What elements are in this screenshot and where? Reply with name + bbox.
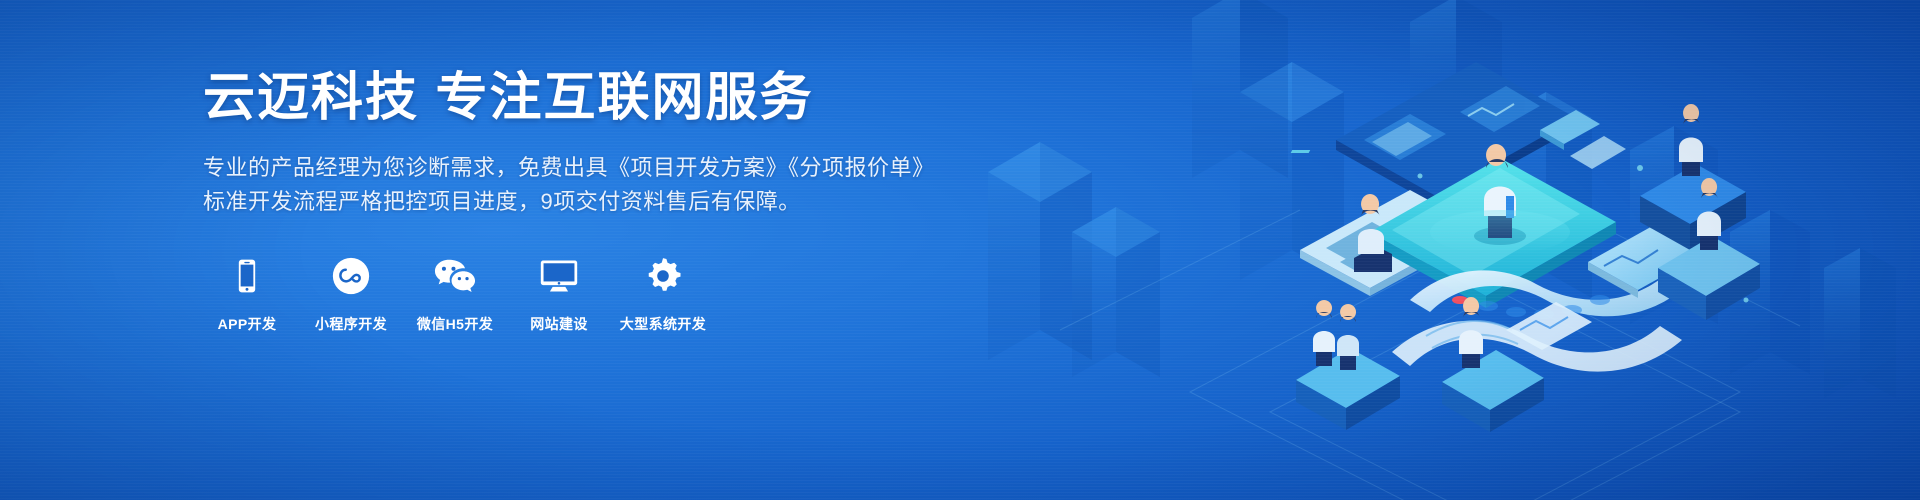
service-item-website[interactable]: 网站建设 xyxy=(515,253,603,334)
service-item-large-system[interactable]: 大型系统开发 xyxy=(619,253,707,334)
monitor-icon xyxy=(537,253,581,299)
figure-hero xyxy=(1474,144,1526,245)
mobile-phone-icon xyxy=(227,253,267,299)
service-item-wechat-h5[interactable]: 微信H5开发 xyxy=(411,253,499,334)
banner-subtitle-line-1: 专业的产品经理为您诊断需求，免费出具《项目开发方案》《分项报价单》 xyxy=(203,151,1103,185)
banner-headline: 云迈科技 专注互联网服务 xyxy=(203,68,1103,129)
hero-banner: 云迈科技 专注互联网服务 专业的产品经理为您诊断需求，免费出具《项目开发方案》《… xyxy=(0,0,1920,500)
service-item-app[interactable]: APP开发 xyxy=(203,253,291,334)
banner-content: 云迈科技 专注互联网服务 专业的产品经理为您诊断需求，免费出具《项目开发方案》《… xyxy=(203,68,1103,334)
service-label: 大型系统开发 xyxy=(620,314,706,334)
mini-program-icon xyxy=(330,253,372,299)
service-label: 网站建设 xyxy=(530,314,588,334)
gear-icon xyxy=(642,253,684,299)
figure-lower-right xyxy=(1459,297,1483,368)
service-label: APP开发 xyxy=(218,314,277,334)
figure-laptop xyxy=(1354,194,1392,272)
service-list: APP开发 小程序开发 xyxy=(203,253,1103,334)
figure-right-lower xyxy=(1697,178,1721,250)
service-item-mini-program[interactable]: 小程序开发 xyxy=(307,253,395,334)
service-label: 微信H5开发 xyxy=(417,314,493,334)
figure-right-upper xyxy=(1679,104,1703,176)
service-label: 小程序开发 xyxy=(315,314,387,334)
wechat-icon xyxy=(432,253,478,299)
banner-subtitle-line-2: 标准开发流程严格把控项目进度，9项交付资料售后有保障。 xyxy=(203,185,1103,219)
figure-pair-left xyxy=(1313,300,1359,370)
